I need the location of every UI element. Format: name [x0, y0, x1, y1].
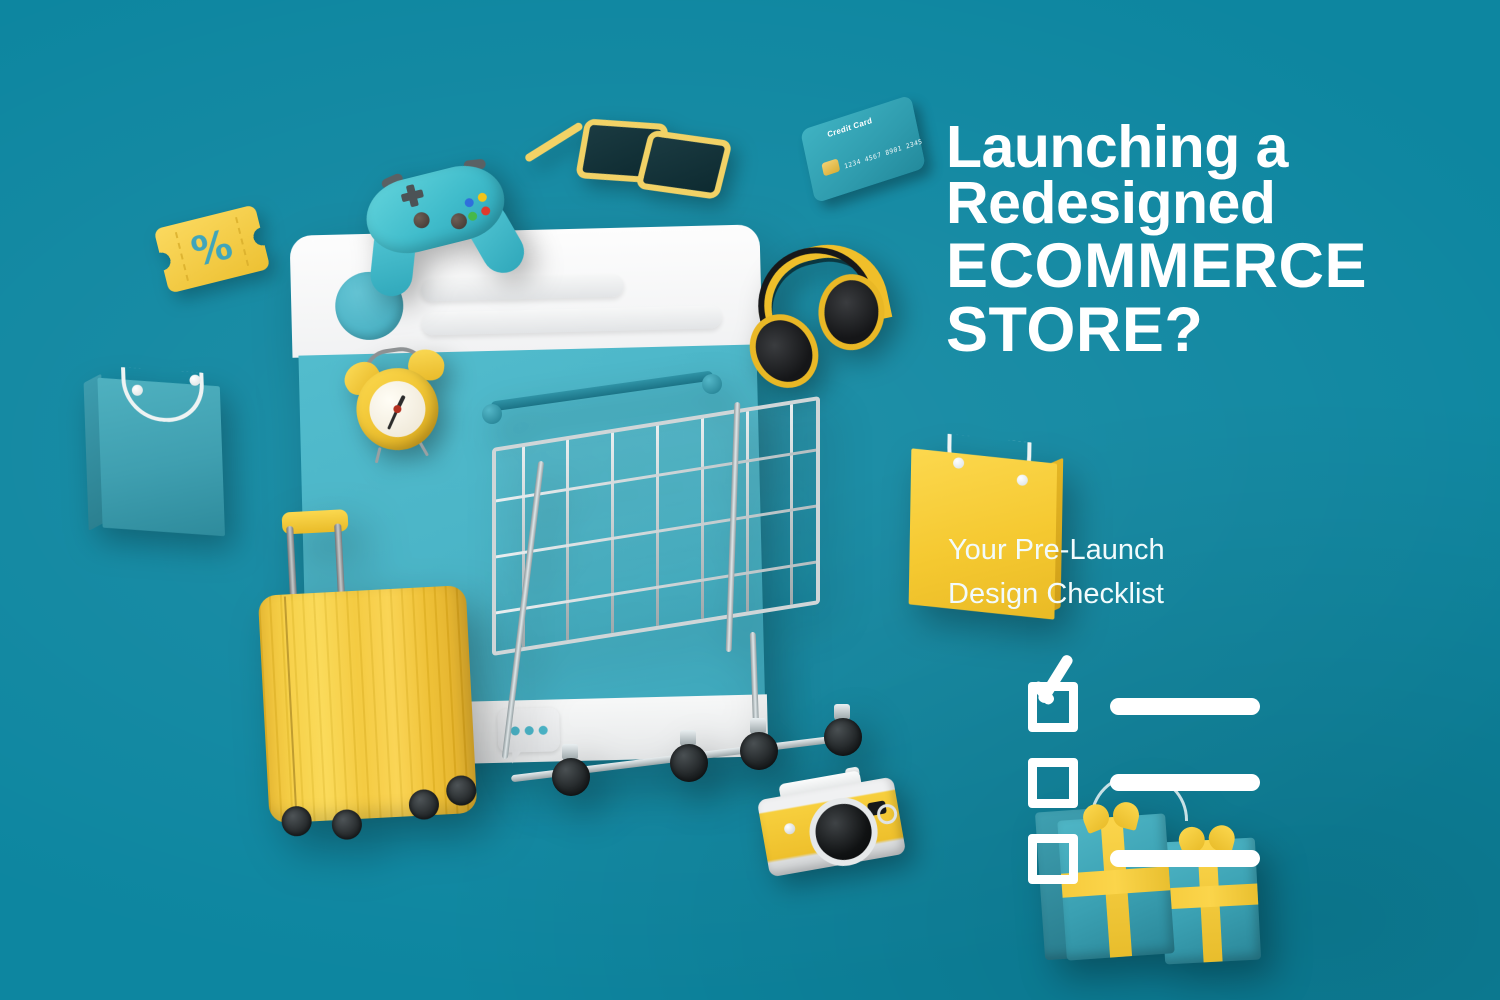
checklist-graphic	[950, 678, 1370, 906]
suitcase-handle-rod	[334, 523, 345, 599]
discount-coupon-icon: %	[154, 204, 271, 293]
percent-symbol: %	[154, 204, 271, 293]
suitcase-shell	[258, 585, 478, 824]
teal-shopping-bag-icon	[83, 363, 237, 538]
suitcase-handle-rod	[286, 526, 297, 602]
subtitle-line-1: Your Pre-Launch	[948, 528, 1368, 572]
cart-wheel	[552, 758, 590, 796]
cart-push-handle	[490, 370, 713, 411]
retro-camera-icon	[754, 759, 909, 889]
checkbox-unchecked	[1028, 834, 1078, 884]
headline-line-4: STORE?	[946, 299, 1486, 361]
credit-card-label: Credit Card	[827, 116, 873, 139]
subtitle-line-2: Design Checklist	[948, 572, 1368, 616]
credit-card-icon: Credit Card 1234 4567 8901 2345	[800, 95, 926, 204]
headline-line-2: Redesigned	[946, 174, 1486, 232]
suitcase-wheel	[281, 805, 313, 837]
subtitle: Your Pre-Launch Design Checklist	[948, 528, 1368, 616]
cart-wheel	[740, 732, 778, 770]
sunglasses-temple	[524, 121, 584, 163]
credit-card-number: 1234 4567 8901 2345	[844, 137, 924, 170]
cart-wheel	[670, 744, 708, 782]
checklist-line	[1110, 774, 1260, 791]
cart-handle-knob	[482, 404, 502, 424]
clock-foot	[375, 447, 382, 463]
checklist-line	[1110, 698, 1260, 715]
banner-canvas: %	[0, 0, 1500, 1000]
cart-wheel	[824, 718, 862, 756]
product-collage: %	[0, 0, 940, 1000]
shopping-cart-icon	[462, 362, 882, 782]
checklist-item	[950, 678, 1370, 754]
checkbox-unchecked	[1028, 758, 1078, 808]
suitcase-wheel	[408, 789, 440, 821]
checklist-item	[950, 754, 1370, 830]
cart-basket	[492, 396, 820, 656]
sunglasses-lens	[635, 130, 733, 200]
sunglasses-icon	[514, 94, 713, 205]
suitcase-wheel	[331, 809, 363, 841]
yellow-suitcase-icon	[254, 502, 493, 843]
headphones-earcup	[817, 273, 886, 351]
headline-line-1: Launching a	[946, 118, 1486, 176]
headline-line-3: ECOMMERCE	[946, 235, 1486, 297]
checklist-line	[1110, 850, 1260, 867]
clock-face	[366, 377, 429, 440]
checkmark-icon	[1034, 654, 1096, 706]
clock-foot	[418, 441, 429, 456]
checklist-item	[950, 830, 1370, 906]
cart-handle-knob	[702, 374, 722, 394]
text-panel: Launching a Redesigned ECOMMERCE STORE? …	[940, 0, 1500, 1000]
credit-card-chip	[821, 158, 840, 176]
alarm-clock-icon	[343, 346, 453, 466]
clock-center-pin	[393, 405, 402, 414]
page-title: Launching a Redesigned ECOMMERCE STORE?	[946, 118, 1486, 362]
